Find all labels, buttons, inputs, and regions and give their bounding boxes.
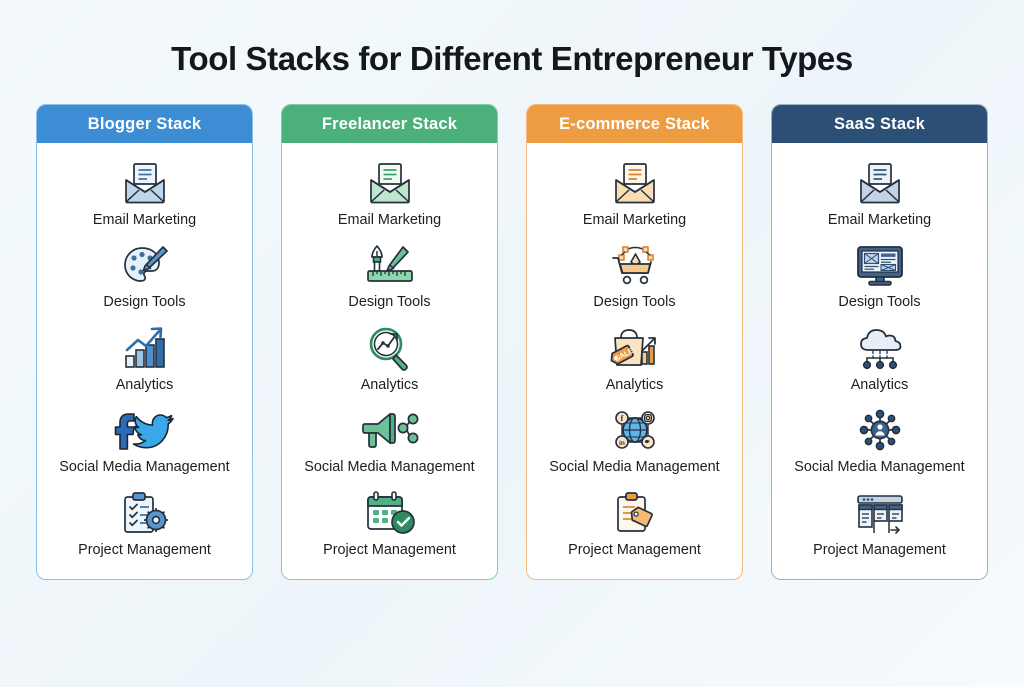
tool-item: Social Media Management (290, 406, 489, 476)
infographic-page: Tool Stacks for Different Entrepreneur T… (0, 0, 1024, 687)
stack-card-ecommerce: E-commerce Stack Ema (526, 104, 743, 580)
tool-item: f in Social Media Management (535, 406, 734, 476)
svg-text:in: in (619, 440, 625, 447)
tool-item: Project Management (290, 489, 489, 559)
tool-item: SALE Analytics (535, 324, 734, 394)
open-envelope-letter-icon (120, 159, 170, 207)
svg-text:f: f (620, 414, 623, 423)
cloud-data-nodes-icon (853, 324, 907, 372)
tool-item: Project Management (780, 489, 979, 559)
tool-label: Email Marketing (93, 211, 196, 229)
tool-item: Project Management (535, 489, 734, 559)
megaphone-share-icon (360, 406, 420, 454)
tool-item: Design Tools (780, 241, 979, 311)
open-envelope-letter-icon (855, 159, 905, 207)
tool-label: Analytics (116, 376, 174, 394)
tool-label: Social Media Management (304, 458, 474, 476)
stack-card-blogger: Blogger Stack Email (36, 104, 253, 580)
page-title: Tool Stacks for Different Entrepreneur T… (0, 0, 1024, 78)
tool-item: Analytics (45, 324, 244, 394)
open-envelope-letter-icon (365, 159, 415, 207)
stack-body-ecommerce: Email Marketing (527, 143, 742, 579)
open-envelope-letter-icon (610, 159, 660, 207)
tool-label: Design Tools (103, 293, 185, 311)
tool-label: Project Management (323, 541, 456, 559)
stack-columns: Blogger Stack Email (0, 104, 1024, 580)
monitor-wireframe-icon (853, 241, 907, 289)
tool-item: Analytics (780, 324, 979, 394)
facebook-twitter-icon (114, 406, 176, 454)
magnifier-trendline-icon (365, 324, 415, 372)
tool-item: Email Marketing (290, 159, 489, 229)
stack-body-blogger: Email Marketing (37, 143, 252, 579)
tool-label: Project Management (78, 541, 211, 559)
tool-item: Social Media Management (45, 406, 244, 476)
shopping-bag-sale-chart-icon: SALE (608, 324, 662, 372)
stack-header-saas: SaaS Stack (772, 105, 987, 143)
stack-header-blogger: Blogger Stack (37, 105, 252, 143)
tool-item: Analytics (290, 324, 489, 394)
tool-label: Design Tools (593, 293, 675, 311)
tool-label: Social Media Management (59, 458, 229, 476)
stack-body-saas: Email Marketing (772, 143, 987, 579)
stack-header-freelancer: Freelancer Stack (282, 105, 497, 143)
user-network-hub-icon (853, 406, 907, 454)
stack-body-freelancer: Email Marketing (282, 143, 497, 579)
tool-label: Analytics (606, 376, 664, 394)
tool-label: Design Tools (838, 293, 920, 311)
stack-card-freelancer: Freelancer Stack Ema (281, 104, 498, 580)
tool-item: Social Media Management (780, 406, 979, 476)
artist-palette-brush-icon (120, 241, 170, 289)
stack-header-ecommerce: E-commerce Stack (527, 105, 742, 143)
tool-item: Email Marketing (535, 159, 734, 229)
tool-label: Project Management (813, 541, 946, 559)
pen-pencil-ruler-icon (363, 241, 417, 289)
tool-item: Design Tools (45, 241, 244, 311)
tool-label: Analytics (851, 376, 909, 394)
tool-item: Design Tools (290, 241, 489, 311)
shopping-cart-pen-tool-icon (608, 241, 662, 289)
clipboard-checklist-gear-icon (119, 489, 171, 537)
tool-item: Email Marketing (780, 159, 979, 229)
globe-social-badges-icon: f in (608, 406, 662, 454)
tool-item: Email Marketing (45, 159, 244, 229)
calendar-check-icon (363, 489, 417, 537)
bar-chart-arrow-up-icon (120, 324, 170, 372)
clipboard-tag-icon (610, 489, 660, 537)
tool-label: Project Management (568, 541, 701, 559)
tool-item: Design Tools (535, 241, 734, 311)
tool-label: Social Media Management (549, 458, 719, 476)
tool-label: Analytics (361, 376, 419, 394)
tool-label: Design Tools (348, 293, 430, 311)
tool-label: Email Marketing (828, 211, 931, 229)
kanban-board-icon (853, 489, 907, 537)
tool-item: Project Management (45, 489, 244, 559)
tool-label: Email Marketing (583, 211, 686, 229)
stack-card-saas: SaaS Stack Email Mar (771, 104, 988, 580)
tool-label: Social Media Management (794, 458, 964, 476)
tool-label: Email Marketing (338, 211, 441, 229)
